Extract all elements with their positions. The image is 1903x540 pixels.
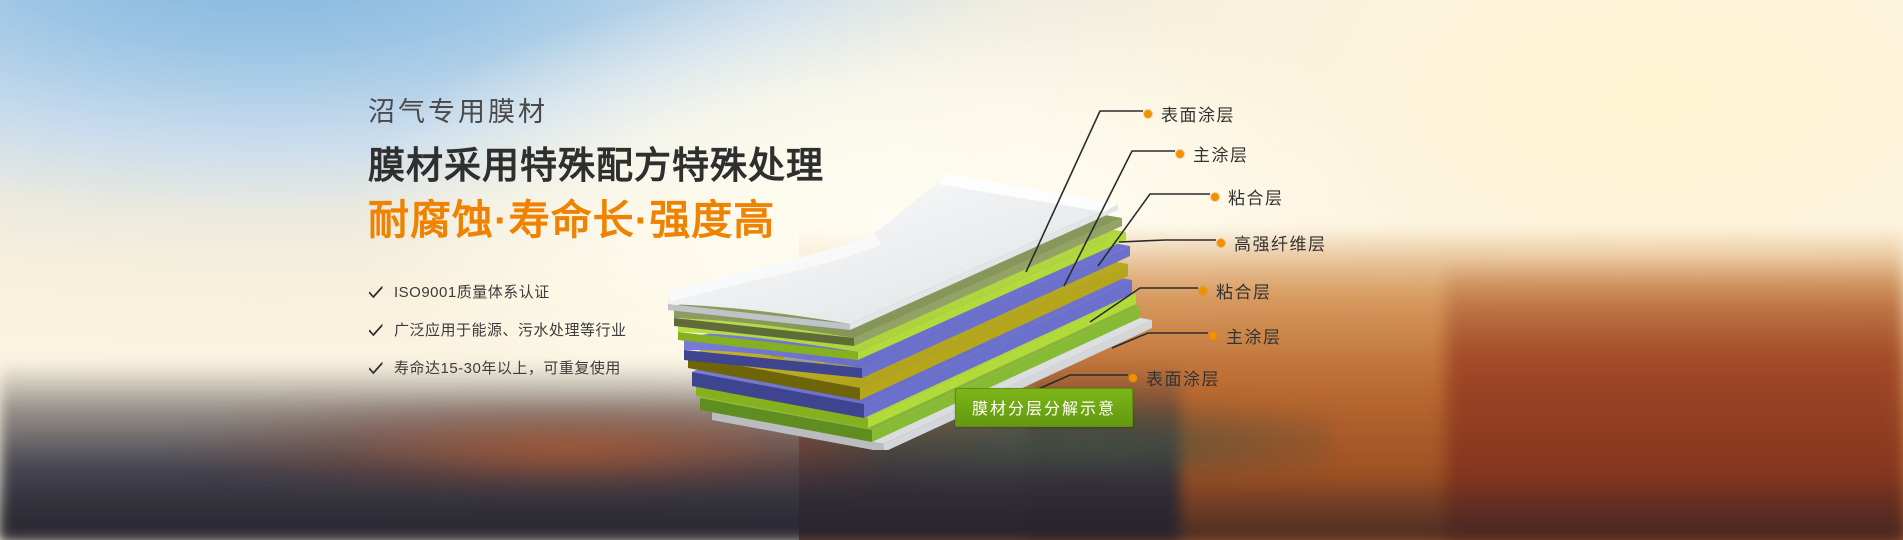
- callout-label: 表面涂层: [1161, 101, 1235, 126]
- feature-label: 广泛应用于能源、污水处理等行业: [394, 319, 627, 340]
- callout-label: 高强纤维层: [1234, 230, 1327, 255]
- callout-dot-icon: [1199, 287, 1207, 295]
- callout-dot-icon: [1209, 332, 1217, 340]
- callout-surface-coat-top: 表面涂层: [1144, 101, 1235, 126]
- callout-dot-icon: [1129, 374, 1137, 382]
- callout-fiber-layer: 高强纤维层: [1217, 230, 1327, 255]
- callout-adhesive-top: 粘合层: [1211, 184, 1284, 209]
- background-bottom-shade: [0, 475, 1903, 540]
- callout-label: 粘合层: [1228, 184, 1284, 209]
- callout-adhesive-bottom: 粘合层: [1199, 278, 1272, 303]
- callout-label: 粘合层: [1216, 278, 1272, 303]
- callout-label: 主涂层: [1226, 323, 1282, 348]
- check-icon: [368, 360, 384, 376]
- check-icon: [368, 284, 384, 300]
- callout-main-coat-bottom: 主涂层: [1209, 323, 1282, 348]
- banner-eyebrow: 沼气专用膜材: [368, 96, 838, 130]
- callout-label: 表面涂层: [1146, 365, 1220, 390]
- callout-label: 主涂层: [1193, 141, 1249, 166]
- callout-main-coat-top: 主涂层: [1176, 141, 1249, 166]
- callout-dot-icon: [1217, 239, 1225, 247]
- diagram-badge: 膜材分层分解示意: [955, 388, 1133, 427]
- callout-dot-icon: [1144, 110, 1152, 118]
- callout-dot-icon: [1176, 150, 1184, 158]
- check-icon: [368, 322, 384, 338]
- membrane-layer-diagram: [660, 160, 1220, 450]
- callout-dot-icon: [1211, 193, 1219, 201]
- feature-label: ISO9001质量体系认证: [394, 281, 550, 302]
- product-banner: 沼气专用膜材 膜材采用特殊配方特殊处理 耐腐蚀·寿命长·强度高 ISO9001质…: [0, 0, 1903, 540]
- callout-surface-coat-bottom: 表面涂层: [1129, 365, 1220, 390]
- feature-label: 寿命达15-30年以上，可重复使用: [394, 357, 621, 378]
